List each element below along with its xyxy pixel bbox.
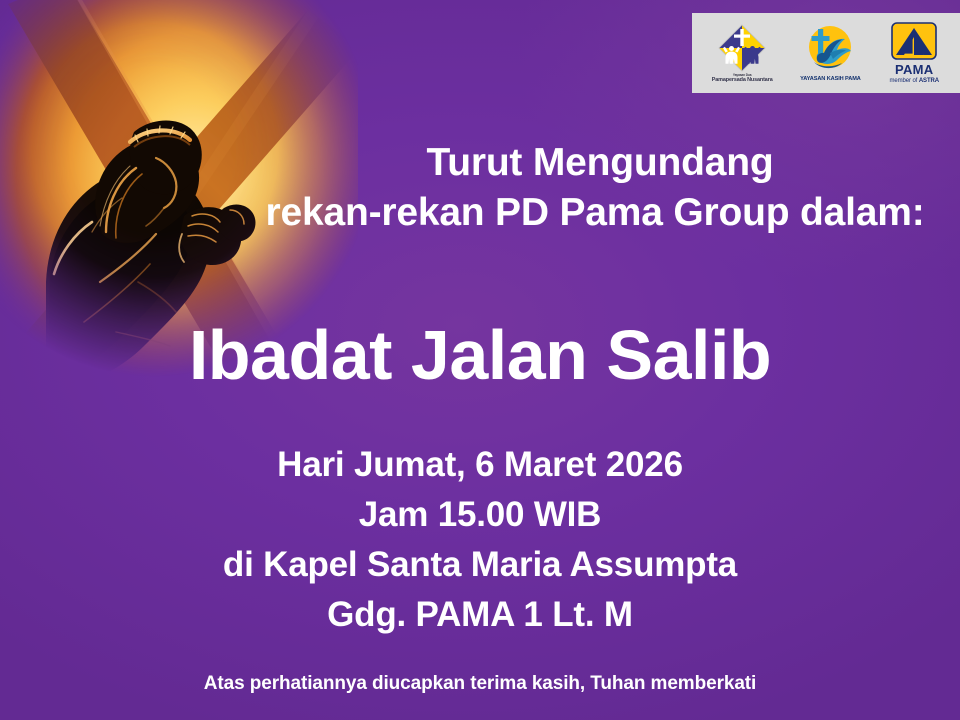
logo-pama-astra: PAMA member of ASTRA [888, 13, 940, 93]
closing-message: Atas perhatiannya diucapkan terima kasih… [0, 671, 960, 697]
logo-caption: YAYASAN KASIH PAMA [800, 77, 861, 83]
pama-mark-icon [888, 22, 940, 62]
invitation-text: Turut Mengundang rekan-rekan PD Pama Gro… [0, 138, 960, 238]
event-venue: di Kapel Santa Maria Assumpta [0, 540, 960, 590]
yayasan-dharma-icon [716, 22, 768, 74]
logo-yayasan-dharma: Yayasan Dua Pamapersada Nusantara [712, 13, 773, 93]
event-building: Gdg. PAMA 1 Lt. M [0, 590, 960, 640]
event-day-date: Hari Jumat, 6 Maret 2026 [0, 440, 960, 490]
logo-caption-main: PAMA [895, 63, 934, 77]
logo-caption-sub-light: member of [889, 78, 918, 84]
logo-caption: Pamapersada Nusantara [712, 78, 773, 84]
event-time: Jam 15.00 WIB [0, 490, 960, 540]
logo-caption-sub: member of ASTRA [889, 78, 939, 84]
dove-cross-icon [804, 23, 856, 75]
logo-bar: Yayasan Dua Pamapersada Nusantara YAYASA… [692, 13, 960, 93]
invitation-line-1: Turut Mengundang [0, 138, 960, 188]
invitation-poster: Yayasan Dua Pamapersada Nusantara YAYASA… [0, 0, 960, 720]
invitation-line-2: rekan-rekan PD Pama Group dalam: [0, 188, 960, 238]
event-details: Hari Jumat, 6 Maret 2026 Jam 15.00 WIB d… [0, 440, 960, 640]
event-headline: Ibadat Jalan Salib [0, 312, 960, 398]
logo-caption-sub-bold: ASTRA [919, 78, 939, 84]
logo-yayasan-kasih-pama: YAYASAN KASIH PAMA [800, 13, 861, 93]
